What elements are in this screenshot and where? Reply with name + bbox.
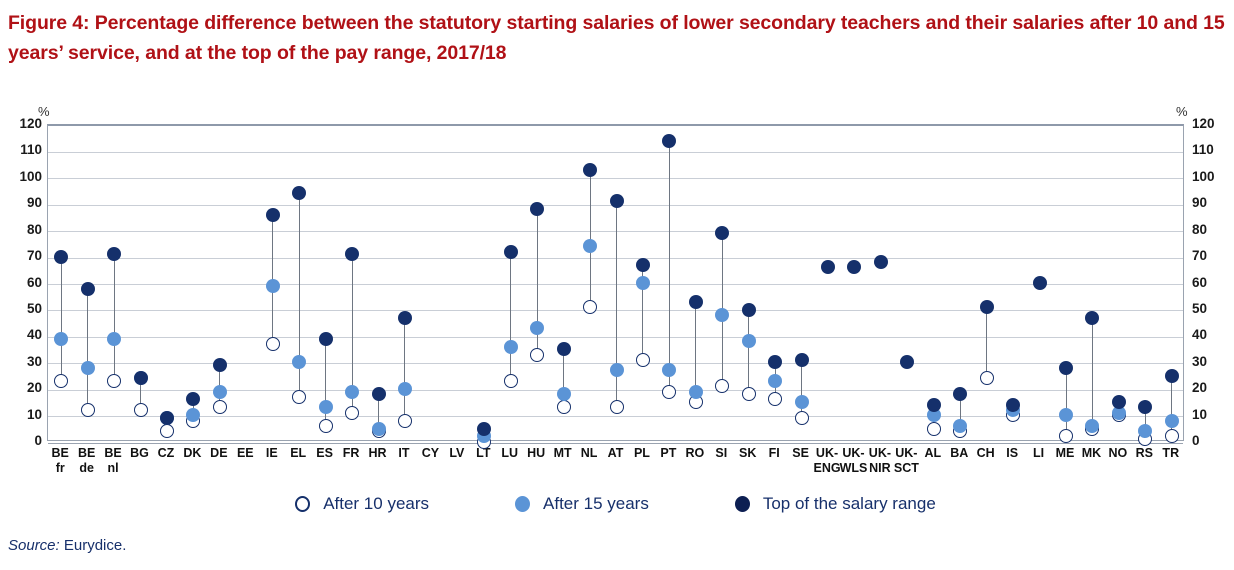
x-label-line2: de (78, 461, 95, 476)
data-point-after-15[interactable] (768, 374, 782, 388)
data-point-top-range[interactable] (477, 422, 491, 436)
data-point-after-15[interactable] (1165, 414, 1179, 428)
x-label-be-nl: BEnl (104, 446, 121, 476)
x-label-pt: PT (660, 446, 676, 461)
x-label-se: SE (792, 446, 809, 461)
gridline-0 (48, 443, 1183, 444)
x-label-hu: HU (527, 446, 545, 461)
chart-legend: After 10 years After 15 years Top of the… (47, 489, 1184, 519)
x-label-lv: LV (449, 446, 464, 461)
data-point-after-15[interactable] (186, 408, 200, 422)
data-point-top-range[interactable] (345, 247, 359, 261)
connector-stem (510, 248, 511, 377)
data-point-top-range[interactable] (81, 282, 95, 296)
x-label-line1: UK- (895, 446, 917, 460)
x-label-dk: DK (183, 446, 201, 461)
data-point-after-15[interactable] (107, 332, 121, 346)
data-point-after-15[interactable] (319, 400, 333, 414)
x-label-uk-wls: UK-WLS (840, 446, 868, 476)
x-label-line1: DE (210, 446, 227, 460)
data-point-after-10[interactable] (795, 411, 809, 425)
x-label-line1: RO (685, 446, 704, 460)
y-tick-right-20: 20 (1192, 381, 1232, 395)
y-tick-right-60: 60 (1192, 276, 1232, 290)
data-point-top-range[interactable] (292, 186, 306, 200)
source-prefix: Source: (8, 537, 60, 554)
y-tick-left-60: 60 (2, 276, 42, 290)
data-point-top-range[interactable] (980, 300, 994, 314)
x-label-line1: EE (237, 446, 254, 460)
x-label-line2: nl (104, 461, 121, 476)
data-point-top-range[interactable] (107, 247, 121, 261)
source-note: Source: Eurydice. (8, 537, 126, 554)
x-label-line1: IT (398, 446, 409, 460)
x-label-line1: LV (449, 446, 464, 460)
x-label-de: DE (210, 446, 227, 461)
y-tick-right-90: 90 (1192, 196, 1232, 210)
data-point-top-range[interactable] (821, 260, 835, 274)
data-point-after-15[interactable] (372, 422, 386, 436)
data-point-top-range[interactable] (795, 353, 809, 367)
data-point-top-range[interactable] (54, 250, 68, 264)
x-label-line1: BA (950, 446, 968, 460)
y-tick-right-70: 70 (1192, 249, 1232, 263)
data-point-after-10[interactable] (504, 374, 518, 388)
x-label-hr: HR (368, 446, 386, 461)
data-point-top-range[interactable] (1138, 400, 1152, 414)
data-point-top-range[interactable] (398, 311, 412, 325)
x-label-line1: FI (769, 446, 780, 460)
data-point-after-10[interactable] (610, 400, 624, 414)
data-point-after-10[interactable] (54, 374, 68, 388)
legend-label-after-15: After 15 years (543, 494, 649, 514)
x-label-line1: LU (501, 446, 518, 460)
data-point-top-range[interactable] (583, 163, 597, 177)
data-point-after-10[interactable] (742, 387, 756, 401)
x-label-line2: ENG (813, 461, 840, 476)
data-point-top-range[interactable] (715, 226, 729, 240)
filled-circle-dark-icon (735, 496, 750, 512)
connector-stem (590, 166, 591, 303)
x-label-line1: CH (977, 446, 995, 460)
x-label-mt: MT (554, 446, 572, 461)
x-label-line1: IE (266, 446, 278, 460)
y-tick-right-110: 110 (1192, 143, 1232, 157)
connector-stem (1092, 314, 1093, 425)
x-label-fr: FR (343, 446, 360, 461)
y-tick-left-70: 70 (2, 249, 42, 263)
x-label-line1: PT (660, 446, 676, 460)
data-point-after-10[interactable] (213, 400, 227, 414)
data-point-after-10[interactable] (980, 371, 994, 385)
x-label-no: NO (1109, 446, 1128, 461)
data-point-top-range[interactable] (874, 255, 888, 269)
x-label-line1: BE (52, 446, 69, 460)
data-point-after-10[interactable] (81, 403, 95, 417)
figure-title: Figure 4: Percentage difference between … (8, 8, 1226, 68)
data-point-top-range[interactable] (1085, 311, 1099, 325)
x-label-line1: PL (634, 446, 650, 460)
x-label-es: ES (316, 446, 333, 461)
data-point-after-15[interactable] (742, 334, 756, 348)
data-point-after-15[interactable] (795, 395, 809, 409)
connector-stem (87, 285, 88, 407)
data-point-top-range[interactable] (953, 387, 967, 401)
x-label-line1: EL (290, 446, 306, 460)
data-point-after-10[interactable] (557, 400, 571, 414)
data-point-after-15[interactable] (530, 321, 544, 335)
x-label-line1: AT (608, 446, 624, 460)
y-tick-left-120: 120 (2, 117, 42, 131)
x-label-at: AT (608, 446, 624, 461)
x-label-al: AL (924, 446, 941, 461)
x-label-line1: UK- (842, 446, 864, 460)
data-point-after-15[interactable] (292, 355, 306, 369)
connector-stem (669, 137, 670, 388)
data-point-after-10[interactable] (160, 424, 174, 438)
x-label-ee: EE (237, 446, 254, 461)
x-label-el: EL (290, 446, 306, 461)
x-label-nl: NL (581, 446, 598, 461)
x-label-line1: IS (1006, 446, 1018, 460)
x-label-line1: RS (1136, 446, 1153, 460)
data-point-top-range[interactable] (557, 342, 571, 356)
y-tick-right-50: 50 (1192, 302, 1232, 316)
x-label-line2: NIR (869, 461, 891, 476)
x-label-line1: HR (368, 446, 386, 460)
x-label-line2: SCT (894, 461, 919, 476)
data-point-after-10[interactable] (107, 374, 121, 388)
data-point-top-range[interactable] (266, 208, 280, 222)
data-point-after-15[interactable] (583, 239, 597, 253)
x-label-rs: RS (1136, 446, 1153, 461)
data-point-top-range[interactable] (504, 245, 518, 259)
data-point-after-15[interactable] (266, 279, 280, 293)
y-tick-right-40: 40 (1192, 328, 1232, 342)
x-label-fi: FI (769, 446, 780, 461)
data-point-top-range[interactable] (160, 411, 174, 425)
x-label-line1: LI (1033, 446, 1044, 460)
data-point-after-15[interactable] (54, 332, 68, 346)
legend-item-after-15[interactable]: After 15 years (515, 494, 649, 514)
x-label-line2: fr (52, 461, 69, 476)
x-label-ie: IE (266, 446, 278, 461)
connector-stem (272, 211, 273, 340)
x-label-pl: PL (634, 446, 650, 461)
x-label-li: LI (1033, 446, 1044, 461)
x-label-si: SI (715, 446, 727, 461)
y-axis-unit-right: % (1176, 104, 1188, 119)
x-label-line1: BE (104, 446, 121, 460)
x-label-it: IT (398, 446, 409, 461)
x-label-line1: NL (581, 446, 598, 460)
legend-item-top-range[interactable]: Top of the salary range (735, 494, 936, 514)
data-point-top-range[interactable] (689, 295, 703, 309)
x-label-line1: TR (1162, 446, 1179, 460)
x-label-line1: MT (554, 446, 572, 460)
y-tick-left-0: 0 (2, 434, 42, 448)
x-label-mk: MK (1082, 446, 1101, 461)
data-point-after-15[interactable] (213, 385, 227, 399)
data-point-top-range[interactable] (742, 303, 756, 317)
data-point-after-15[interactable] (953, 419, 967, 433)
x-label-line1: ME (1056, 446, 1075, 460)
x-label-line1: FR (343, 446, 360, 460)
data-point-after-15[interactable] (689, 385, 703, 399)
data-point-after-15[interactable] (398, 382, 412, 396)
x-label-line1: SK (739, 446, 756, 460)
x-label-be-de: BEde (78, 446, 95, 476)
data-point-after-15[interactable] (557, 387, 571, 401)
y-tick-right-10: 10 (1192, 408, 1232, 422)
y-tick-left-20: 20 (2, 381, 42, 395)
data-point-top-range[interactable] (134, 371, 148, 385)
data-point-top-range[interactable] (927, 398, 941, 412)
gridline-110 (48, 152, 1183, 153)
x-label-line1: BG (130, 446, 149, 460)
x-label-bg: BG (130, 446, 149, 461)
y-tick-right-120: 120 (1192, 117, 1232, 131)
x-label-cy: CY (422, 446, 439, 461)
data-point-top-range[interactable] (847, 260, 861, 274)
x-label-line1: CZ (158, 446, 175, 460)
y-tick-right-100: 100 (1192, 170, 1232, 184)
data-point-after-15[interactable] (715, 308, 729, 322)
x-label-ro: RO (685, 446, 704, 461)
x-axis-labels: BEfrBEdeBEnlBGCZDKDEEEIEELESFRHRITCYLVLT… (47, 446, 1184, 488)
data-point-top-range[interactable] (1059, 361, 1073, 375)
x-label-line1: BE (78, 446, 95, 460)
x-label-line1: UK- (869, 446, 891, 460)
x-label-line1: ES (316, 446, 333, 460)
data-point-top-range[interactable] (900, 355, 914, 369)
data-point-after-10[interactable] (1165, 429, 1179, 443)
data-point-top-range[interactable] (768, 355, 782, 369)
gridline-100 (48, 178, 1183, 179)
x-label-cz: CZ (158, 446, 175, 461)
data-point-after-10[interactable] (768, 392, 782, 406)
open-circle-icon (295, 496, 310, 512)
data-point-after-15[interactable] (1085, 419, 1099, 433)
connector-stem (114, 250, 115, 377)
data-point-top-range[interactable] (1165, 369, 1179, 383)
connector-stem (642, 261, 643, 356)
data-point-after-10[interactable] (715, 379, 729, 393)
x-label-uk-sct: UK-SCT (894, 446, 919, 476)
data-point-after-10[interactable] (927, 422, 941, 436)
figure-container: Figure 4: Percentage difference between … (0, 0, 1234, 570)
legend-item-after-10[interactable]: After 10 years (295, 494, 429, 514)
data-point-after-15[interactable] (81, 361, 95, 375)
x-label-line2: WLS (840, 461, 868, 476)
connector-stem (695, 298, 696, 398)
y-tick-left-110: 110 (2, 143, 42, 157)
x-label-ch: CH (977, 446, 995, 461)
x-label-sk: SK (739, 446, 756, 461)
legend-label-after-10: After 10 years (323, 494, 429, 514)
x-label-is: IS (1006, 446, 1018, 461)
x-label-ba: BA (950, 446, 968, 461)
data-point-after-15[interactable] (1138, 424, 1152, 438)
x-label-be-fr: BEfr (52, 446, 69, 476)
connector-stem (404, 314, 405, 417)
x-label-line1: CY (422, 446, 439, 460)
y-tick-left-40: 40 (2, 328, 42, 342)
x-label-line1: UK- (816, 446, 838, 460)
x-label-line1: HU (527, 446, 545, 460)
data-point-after-10[interactable] (319, 419, 333, 433)
connector-stem (722, 229, 723, 382)
y-tick-left-80: 80 (2, 223, 42, 237)
filled-circle-light-icon (515, 496, 530, 512)
data-point-top-range[interactable] (530, 202, 544, 216)
data-point-top-range[interactable] (662, 134, 676, 148)
data-point-top-range[interactable] (1006, 398, 1020, 412)
y-tick-left-90: 90 (2, 196, 42, 210)
data-point-after-10[interactable] (398, 414, 412, 428)
data-point-after-10[interactable] (662, 385, 676, 399)
data-point-after-10[interactable] (636, 353, 650, 367)
data-point-top-range[interactable] (213, 358, 227, 372)
data-point-top-range[interactable] (372, 387, 386, 401)
y-tick-left-100: 100 (2, 170, 42, 184)
data-point-after-15[interactable] (1059, 408, 1073, 422)
legend-label-top-range: Top of the salary range (763, 494, 936, 514)
x-label-line1: DK (183, 446, 201, 460)
data-point-top-range[interactable] (610, 194, 624, 208)
data-point-after-15[interactable] (504, 340, 518, 354)
data-point-after-15[interactable] (610, 363, 624, 377)
x-label-uk-nir: UK-NIR (869, 446, 891, 476)
data-point-top-range[interactable] (319, 332, 333, 346)
x-label-line1: NO (1109, 446, 1128, 460)
y-tick-left-30: 30 (2, 355, 42, 369)
y-tick-left-50: 50 (2, 302, 42, 316)
source-text: Eurydice. (64, 537, 127, 554)
y-tick-right-30: 30 (1192, 355, 1232, 369)
plot-area (47, 124, 1184, 441)
data-point-after-10[interactable] (134, 403, 148, 417)
data-point-after-15[interactable] (636, 276, 650, 290)
data-point-after-10[interactable] (292, 390, 306, 404)
data-point-after-10[interactable] (345, 406, 359, 420)
data-point-top-range[interactable] (1033, 276, 1047, 290)
data-point-top-range[interactable] (186, 392, 200, 406)
y-tick-left-10: 10 (2, 408, 42, 422)
data-point-after-10[interactable] (583, 300, 597, 314)
y-tick-right-0: 0 (1192, 434, 1232, 448)
data-point-after-15[interactable] (662, 363, 676, 377)
x-label-uk-eng: UK-ENG (813, 446, 840, 476)
y-tick-right-80: 80 (1192, 223, 1232, 237)
x-label-lu: LU (501, 446, 518, 461)
data-point-top-range[interactable] (1112, 395, 1126, 409)
x-label-line1: AL (924, 446, 941, 460)
x-label-line1: SE (792, 446, 809, 460)
data-point-after-15[interactable] (345, 385, 359, 399)
connector-stem (61, 253, 62, 377)
data-point-after-10[interactable] (266, 337, 280, 351)
x-label-tr: TR (1162, 446, 1179, 461)
data-point-after-10[interactable] (530, 348, 544, 362)
x-label-line1: SI (715, 446, 727, 460)
x-label-me: ME (1056, 446, 1075, 461)
data-point-after-10[interactable] (1059, 429, 1073, 443)
x-label-line1: MK (1082, 446, 1101, 460)
data-point-top-range[interactable] (636, 258, 650, 272)
